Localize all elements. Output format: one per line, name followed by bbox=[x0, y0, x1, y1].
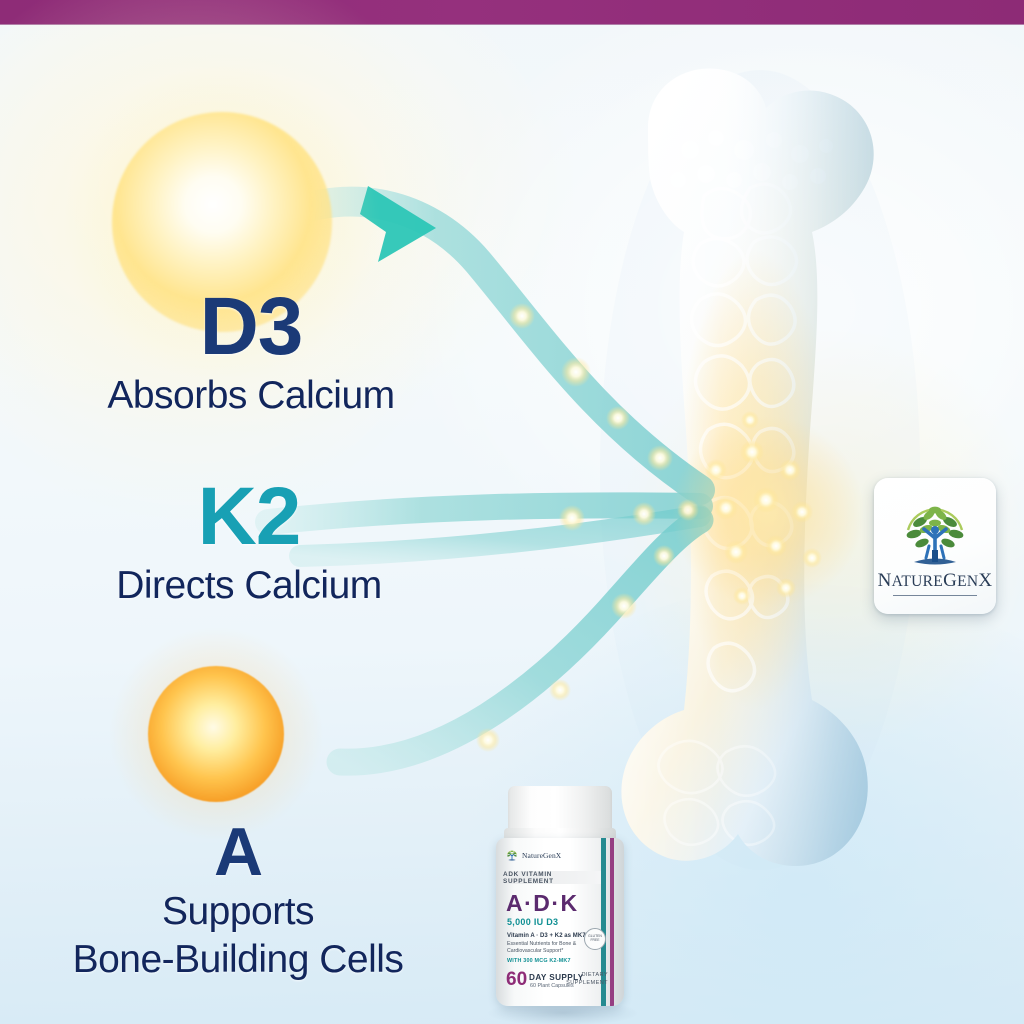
label-k2-callout: WITH 300 MCG K2-MK7 bbox=[507, 958, 571, 964]
label-product-name: A·D·K bbox=[506, 890, 579, 917]
bottle-cap-icon bbox=[508, 786, 612, 834]
nutrient-letter-k2: K2 bbox=[60, 476, 438, 558]
label-benefit: Essential Nutrients for Bone & Cardiovas… bbox=[507, 941, 593, 955]
label-category-band: ADK VITAMIN SUPPLEMENT bbox=[503, 871, 601, 884]
product-bottle[interactable]: NatureGenX ADK VITAMIN SUPPLEMENT A·D·K … bbox=[486, 786, 638, 1024]
label-dietary-line1: DIETARY bbox=[566, 972, 608, 980]
label-dietary-supplement: DIETARY SUPPLEMENT bbox=[566, 972, 608, 988]
label-category-text: ADK VITAMIN SUPPLEMENT bbox=[503, 871, 601, 885]
label-ingredients: Vitamin A · D3 + K2 as MK7 bbox=[507, 933, 586, 939]
nutrient-description-d3: Absorbs Calcium bbox=[62, 374, 440, 418]
nutrient-block-d3: D3 Absorbs Calcium bbox=[62, 286, 440, 418]
label-tree-logo-icon bbox=[505, 848, 519, 862]
label-dietary-line2: SUPPLEMENT bbox=[566, 980, 608, 988]
nutrient-description-a-line1: Supports bbox=[38, 890, 438, 934]
nutrient-description-k2: Directs Calcium bbox=[60, 564, 438, 608]
nutrient-block-k2: K2 Directs Calcium bbox=[60, 476, 438, 608]
label-magenta-stripe bbox=[610, 838, 614, 1006]
logo-underline bbox=[893, 595, 977, 597]
brand-logo-badge[interactable]: NATUREGENX bbox=[874, 478, 996, 614]
nutrient-block-a: A Supports Bone-Building Cells bbox=[38, 818, 438, 981]
infographic-canvas: D3 Absorbs Calcium K2 Directs Calcium A … bbox=[0, 0, 1024, 1024]
nutrient-letter-a: A bbox=[38, 818, 438, 886]
nutrient-description-a-line2: Bone-Building Cells bbox=[38, 938, 438, 982]
seal-text: GLUTEN FREE bbox=[585, 935, 605, 942]
bottle-label: NatureGenX ADK VITAMIN SUPPLEMENT A·D·K … bbox=[496, 838, 624, 1006]
gluten-free-seal-icon: GLUTEN FREE bbox=[584, 928, 606, 950]
brand-logo-wordmark: NATUREGENX bbox=[878, 570, 993, 592]
label-potency: 5,000 IU D3 bbox=[507, 917, 558, 927]
label-count: 60 bbox=[506, 970, 527, 989]
label-brand-row: NatureGenX bbox=[505, 848, 561, 862]
nutrient-letter-d3: D3 bbox=[62, 286, 440, 368]
label-brand-name: NatureGenX bbox=[522, 851, 561, 860]
tree-with-person-logo-icon bbox=[896, 496, 974, 568]
